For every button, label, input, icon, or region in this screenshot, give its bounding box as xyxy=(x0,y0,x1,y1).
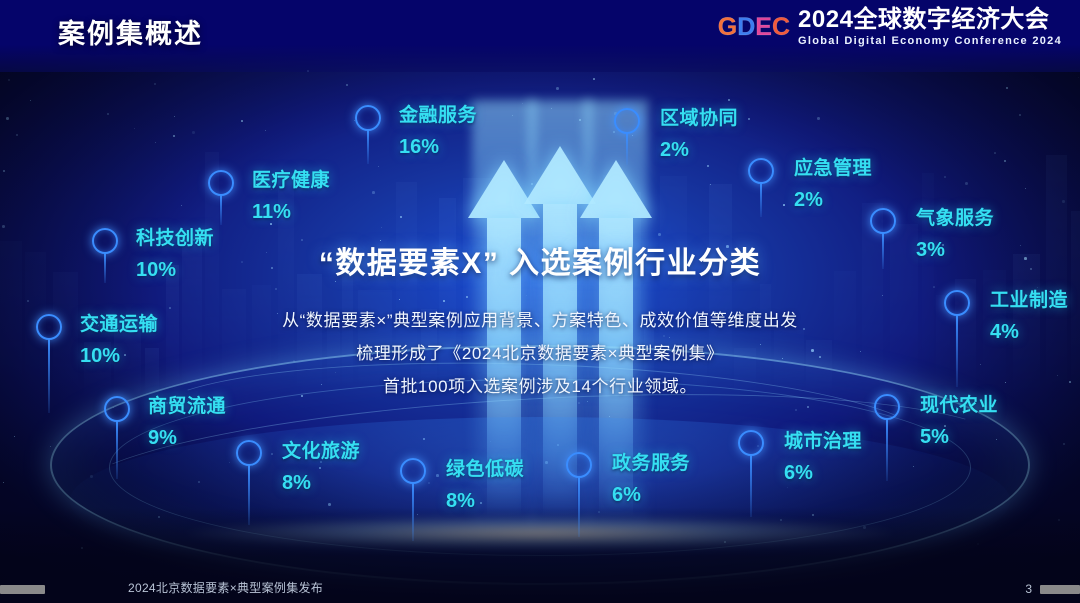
gdec-mark-icon: G D E C xyxy=(718,15,789,40)
pin-stem xyxy=(412,483,414,541)
industry-percent: 8% xyxy=(446,490,524,513)
pin-marker-icon xyxy=(236,440,262,466)
industry-percent: 4% xyxy=(990,321,1068,344)
pin-stem xyxy=(750,455,752,517)
pin-stem xyxy=(48,339,50,413)
industry-label: 工业制造 xyxy=(990,285,1068,312)
presentation-slide: 案例集概述 G D E C 2024全球数字经济大会 Global Digita… xyxy=(0,0,1080,603)
footer-caption: 2024北京数据要素×典型案例集发布 xyxy=(128,579,323,596)
pin-stem xyxy=(578,477,580,537)
pin-marker-icon xyxy=(104,396,130,422)
logo-title-en: Global Digital Economy Conference 2024 xyxy=(798,36,1062,47)
pin-marker-icon xyxy=(400,458,426,484)
industry-label: 现代农业 xyxy=(920,390,998,417)
industry-percent: 2% xyxy=(794,189,872,212)
industry-label: 城市治理 xyxy=(784,426,862,453)
industry-label: 政务服务 xyxy=(612,448,690,475)
industry-percent: 6% xyxy=(784,462,862,485)
chart-description-line: 从“数据要素×”典型案例应用背景、方案特色、成效价值等维度出发 xyxy=(0,304,1080,337)
pin-stem xyxy=(116,421,118,479)
pin-marker-icon xyxy=(870,208,896,234)
pin-marker-icon xyxy=(208,170,234,196)
industry-label: 科技创新 xyxy=(136,223,214,250)
footer-left-bar xyxy=(0,585,45,594)
industry-label: 气象服务 xyxy=(916,203,994,230)
industry-percent: 5% xyxy=(920,426,998,449)
pin-marker-icon xyxy=(748,158,774,184)
industry-percent: 3% xyxy=(916,239,994,262)
page-title: 案例集概述 xyxy=(58,12,203,51)
pin-marker-icon xyxy=(36,314,62,340)
pin-stem xyxy=(367,130,369,164)
logo-letter-g: G xyxy=(718,15,736,40)
industry-percent: 11% xyxy=(252,201,330,224)
pin-marker-icon xyxy=(566,452,592,478)
industry-label: 应急管理 xyxy=(794,153,872,180)
industry-label: 文化旅游 xyxy=(282,436,360,463)
industry-percent: 8% xyxy=(282,472,360,495)
logo-letter-c: C xyxy=(772,15,789,40)
pin-marker-icon xyxy=(92,228,118,254)
industry-percent: 10% xyxy=(80,345,158,368)
pin-stem xyxy=(626,133,628,165)
chart-description: 从“数据要素×”典型案例应用背景、方案特色、成效价值等维度出发梳理形成了《202… xyxy=(0,304,1080,403)
logo-letter-d: D xyxy=(737,15,754,40)
pin-stem xyxy=(248,465,250,525)
industry-label: 交通运输 xyxy=(80,309,158,336)
pin-marker-icon xyxy=(614,108,640,134)
page-number: 3 xyxy=(1025,582,1032,596)
industry-label: 金融服务 xyxy=(399,100,477,127)
conference-logo: G D E C 2024全球数字经济大会 Global Digital Econ… xyxy=(718,8,1062,47)
industry-label: 商贸流通 xyxy=(148,391,226,418)
industry-label: 区域协同 xyxy=(660,103,738,130)
pin-stem xyxy=(882,233,884,269)
chart-description-line: 梳理形成了《2024北京数据要素×典型案例集》 xyxy=(0,337,1080,370)
industry-percent: 6% xyxy=(612,484,690,507)
pin-stem xyxy=(760,183,762,217)
industry-label: 绿色低碳 xyxy=(446,454,524,481)
pin-marker-icon xyxy=(944,290,970,316)
pin-stem xyxy=(956,315,958,387)
logo-letter-e: E xyxy=(755,15,771,40)
pin-stem xyxy=(220,195,222,225)
pin-marker-icon xyxy=(355,105,381,131)
pin-stem xyxy=(104,253,106,283)
industry-percent: 10% xyxy=(136,259,214,282)
industry-label: 医疗健康 xyxy=(252,165,330,192)
industry-percent: 9% xyxy=(148,427,226,450)
pin-marker-icon xyxy=(738,430,764,456)
footer-right-bar xyxy=(1040,585,1080,594)
logo-title-cn: 2024全球数字经济大会 xyxy=(798,8,1062,32)
pin-marker-icon xyxy=(874,394,900,420)
industry-percent: 16% xyxy=(399,136,477,159)
slide-footer: 2024北京数据要素×典型案例集发布 3 xyxy=(0,563,1080,603)
industry-percent: 2% xyxy=(660,139,738,162)
pin-stem xyxy=(886,419,888,481)
